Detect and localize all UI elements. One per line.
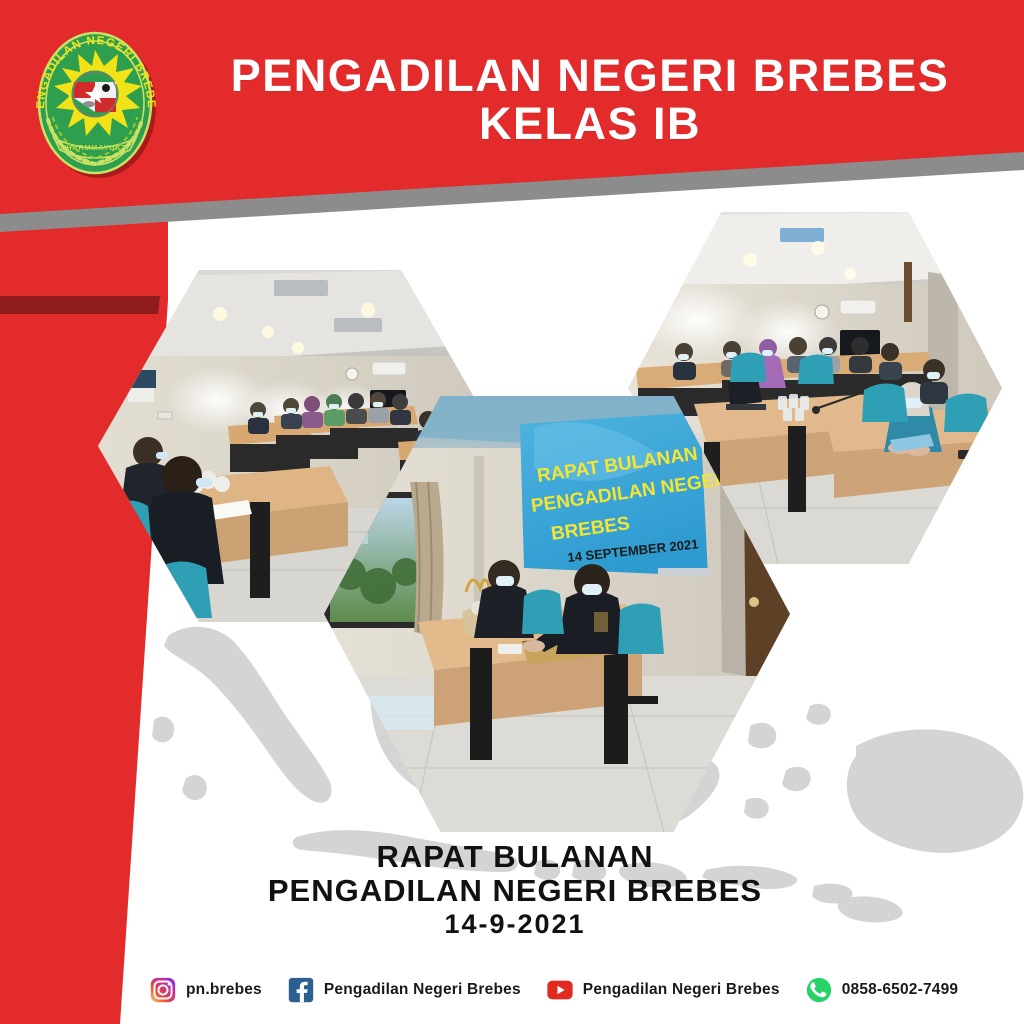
- header-title-line1: PENGADILAN NEGERI BREBES: [231, 50, 950, 101]
- whatsapp-number: 0858-6502-7499: [842, 981, 959, 999]
- youtube-channel-name: Pengadilan Negeri Brebes: [583, 981, 780, 999]
- caption-line3: 14-9-2021: [150, 908, 880, 940]
- page-title: PENGADILAN NEGERI BREBES KELAS IB: [190, 52, 990, 148]
- facebook-icon[interactable]: [288, 977, 314, 1003]
- caption-line1: RAPAT BULANAN: [150, 840, 880, 874]
- poster-canvas: PENGADILAN NEGERI BREBES: [0, 0, 1024, 1024]
- instagram-handle: pn.brebes: [186, 981, 262, 999]
- social-instagram[interactable]: pn.brebes: [150, 977, 262, 1003]
- caption-line2: PENGADILAN NEGERI BREBES: [150, 874, 880, 908]
- whatsapp-icon[interactable]: [806, 977, 832, 1003]
- header-title-line2: KELAS IB: [190, 100, 990, 148]
- social-youtube[interactable]: Pengadilan Negeri Brebes: [547, 977, 780, 1003]
- header: PENGADILAN NEGERI BREBES: [0, 0, 1024, 214]
- court-seal-logo: PENGADILAN NEGERI BREBES: [22, 14, 170, 194]
- caption-block: RAPAT BULANAN PENGADILAN NEGERI BREBES 1…: [150, 840, 880, 940]
- social-whatsapp[interactable]: 0858-6502-7499: [806, 977, 959, 1003]
- youtube-icon[interactable]: [547, 977, 573, 1003]
- social-facebook[interactable]: Pengadilan Negeri Brebes: [288, 977, 521, 1003]
- facebook-page-name: Pengadilan Negeri Brebes: [324, 981, 521, 999]
- social-footer: pn.brebes Pengadilan Negeri Brebes Penga…: [150, 968, 980, 1012]
- instagram-icon[interactable]: [150, 977, 176, 1003]
- header-corner-notch: [0, 296, 160, 314]
